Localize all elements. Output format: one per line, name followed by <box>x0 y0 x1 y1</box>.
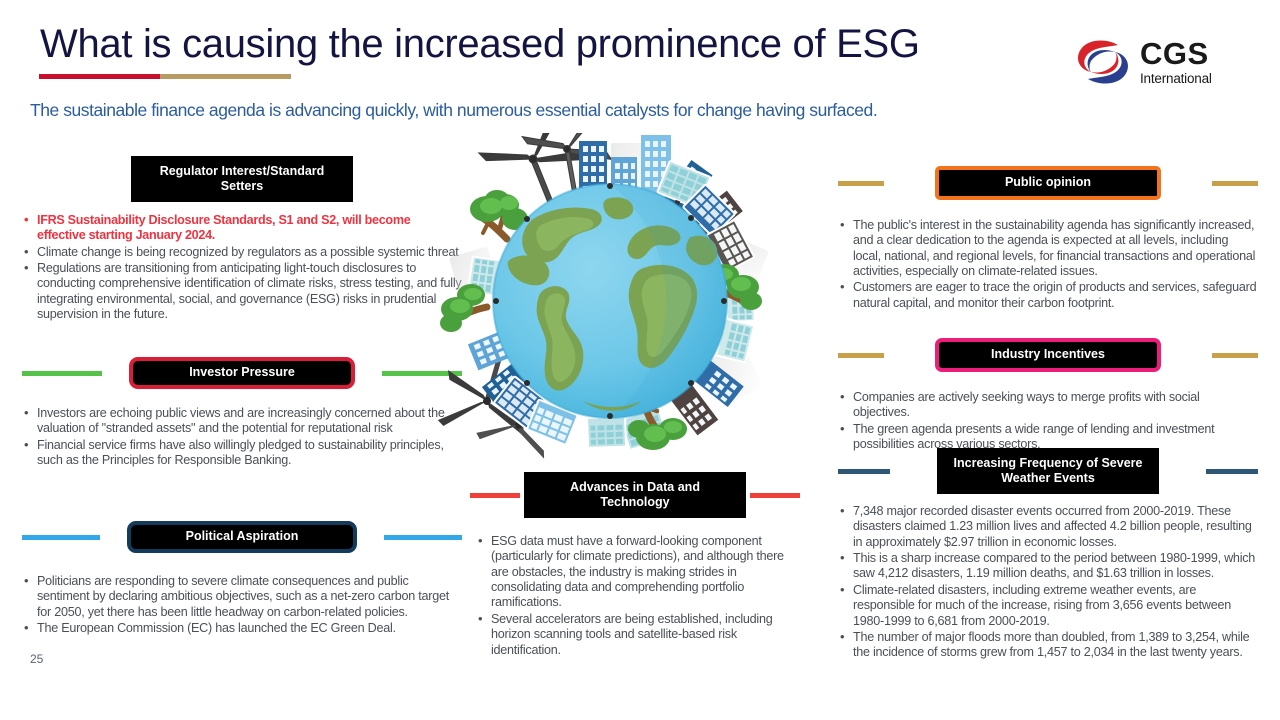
section-header-row: Investor Pressure <box>22 352 462 394</box>
header-accent-line-right <box>1212 353 1258 358</box>
list-item: Customers are eager to trace the origin … <box>838 280 1258 311</box>
section-header-row: Public opinion <box>838 162 1258 204</box>
list-item: Companies are actively seeking ways to m… <box>838 390 1258 421</box>
list-item: Politicians are responding to severe cli… <box>22 574 462 620</box>
bullet-list: Companies are actively seeking ways to m… <box>838 390 1258 452</box>
logo-name: CGS <box>1140 38 1212 69</box>
section-heading: Regulator Interest/Standard Setters <box>131 156 353 202</box>
section-severe-weather-events: Increasing Frequency of Severe Weather E… <box>838 450 1258 662</box>
bullet-list: ESG data must have a forward-looking com… <box>470 534 800 658</box>
title-rule-red-segment <box>39 74 160 79</box>
list-item: Climate-related disasters, including ext… <box>838 583 1258 629</box>
logo-subtitle: International <box>1140 72 1212 86</box>
list-item: 7,348 major recorded disaster events occ… <box>838 504 1258 550</box>
section-header-row: Political Aspiration <box>22 516 462 558</box>
section-header-row: Industry Incentives <box>838 334 1258 376</box>
list-item: Investors are echoing public views and a… <box>22 406 462 437</box>
header-accent-line-left <box>22 371 102 376</box>
list-item: Climate change is being recognized by re… <box>22 245 462 260</box>
list-item: IFRS Sustainability Disclosure Standards… <box>22 213 462 244</box>
cgs-international-logo: CGS International <box>1074 35 1242 89</box>
header-accent-line-right <box>1212 181 1258 186</box>
list-item: Financial service firms have also willin… <box>22 438 462 469</box>
bullet-list: The public's interest in the sustainabil… <box>838 218 1258 311</box>
section-regulator-interest: Regulator Interest/Standard Setters IFRS… <box>22 158 462 324</box>
section-heading: Industry Incentives <box>935 338 1161 372</box>
logo-wordmark: CGS International <box>1140 38 1212 86</box>
title-underline-rule <box>39 74 291 79</box>
list-item: The European Commission (EC) has launche… <box>22 621 462 636</box>
section-heading: Increasing Frequency of Severe Weather E… <box>937 448 1159 494</box>
section-heading: Advances in Data and Technology <box>524 472 746 518</box>
page-title: What is causing the increased prominence… <box>40 22 920 67</box>
globe-sustainable-city-illustration <box>415 133 805 463</box>
bullet-list: 7,348 major recorded disaster events occ… <box>838 504 1258 661</box>
header-accent-line-left <box>22 535 100 540</box>
list-item: Regulations are transitioning from antic… <box>22 261 462 322</box>
page-subtitle: The sustainable finance agenda is advanc… <box>30 100 1220 121</box>
title-rule-gold-segment <box>160 74 291 79</box>
list-item: This is a sharp increase compared to the… <box>838 551 1258 582</box>
header-accent-line-left <box>22 177 94 182</box>
section-industry-incentives: Industry Incentives Companies are active… <box>838 334 1258 453</box>
header-accent-line-left <box>838 353 884 358</box>
section-header-row: Increasing Frequency of Severe Weather E… <box>838 450 1258 492</box>
section-political-aspiration: Political Aspiration Politicians are res… <box>22 516 462 637</box>
page-number: 25 <box>30 652 43 666</box>
section-public-opinion: Public opinion The public's interest in … <box>838 162 1258 312</box>
bullet-list: IFRS Sustainability Disclosure Standards… <box>22 213 462 323</box>
section-advances-data-technology: Advances in Data and Technology ESG data… <box>470 474 800 659</box>
list-item: Several accelerators are being establish… <box>476 612 800 658</box>
section-heading: Investor Pressure <box>129 357 355 389</box>
header-accent-line-right <box>384 535 462 540</box>
header-accent-line-left <box>838 469 890 474</box>
list-item: The number of major floods more than dou… <box>838 630 1258 661</box>
list-item: ESG data must have a forward-looking com… <box>476 534 800 611</box>
bullet-list: Investors are echoing public views and a… <box>22 406 462 468</box>
section-header-row: Advances in Data and Technology <box>470 474 800 516</box>
section-header-row: Regulator Interest/Standard Setters <box>22 158 462 200</box>
header-accent-line-left <box>470 493 520 498</box>
section-investor-pressure: Investor Pressure Investors are echoing … <box>22 352 462 469</box>
header-accent-line-left <box>838 181 884 186</box>
bullet-list: Politicians are responding to severe cli… <box>22 574 462 636</box>
header-accent-line-right <box>750 493 800 498</box>
cgs-swirl-icon <box>1074 37 1132 87</box>
section-heading: Political Aspiration <box>127 521 357 553</box>
section-heading: Public opinion <box>935 166 1161 200</box>
list-item: The public's interest in the sustainabil… <box>838 218 1258 279</box>
header-accent-line-right <box>1206 469 1258 474</box>
